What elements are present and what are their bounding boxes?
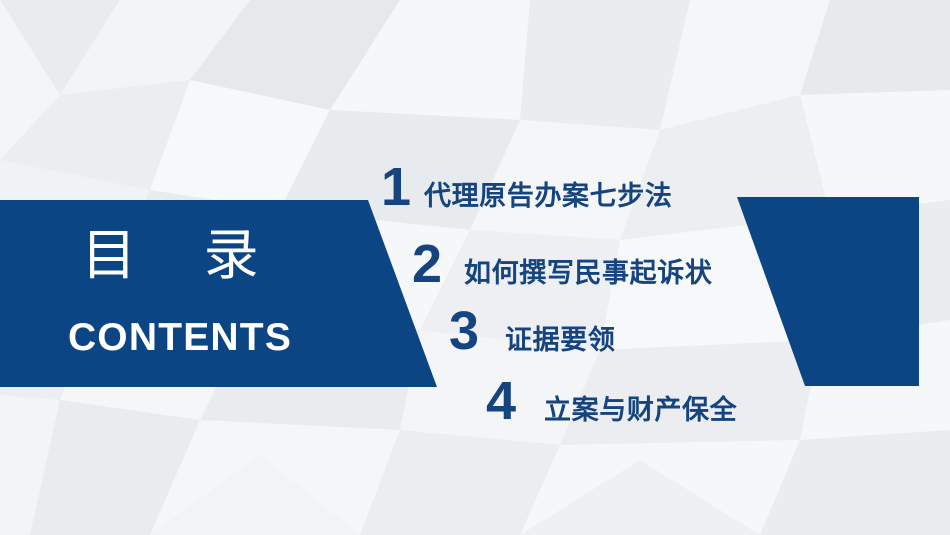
- title-panel: 目 录 CONTENTS: [0, 200, 440, 387]
- page-title-cn: 目 录: [0, 222, 340, 288]
- toc-item-3[interactable]: 3 证据要领: [449, 304, 615, 358]
- toc-number-4: 4: [486, 374, 516, 428]
- title-panel-inner: 目 录 CONTENTS: [0, 200, 370, 387]
- toc-label-1: 代理原告办案七步法: [424, 183, 672, 210]
- toc-item-4[interactable]: 4 立案与财产保全: [486, 374, 737, 428]
- toc-number-3: 3: [449, 304, 479, 358]
- toc-number-1: 1: [381, 160, 411, 214]
- page-title-en: CONTENTS: [0, 316, 360, 360]
- toc-item-2[interactable]: 2 如何撰写民事起诉状: [412, 237, 712, 291]
- slide-canvas: 目 录 CONTENTS 1 代理原告办案七步法 2 如何撰写民事起诉状 3 证…: [0, 0, 950, 535]
- toc-label-3: 证据要领: [505, 327, 615, 354]
- toc-label-2: 如何撰写民事起诉状: [464, 260, 712, 287]
- toc-number-2: 2: [412, 237, 442, 291]
- toc-item-1[interactable]: 1 代理原告办案七步法: [381, 160, 672, 214]
- toc-label-4: 立案与财产保全: [544, 397, 737, 424]
